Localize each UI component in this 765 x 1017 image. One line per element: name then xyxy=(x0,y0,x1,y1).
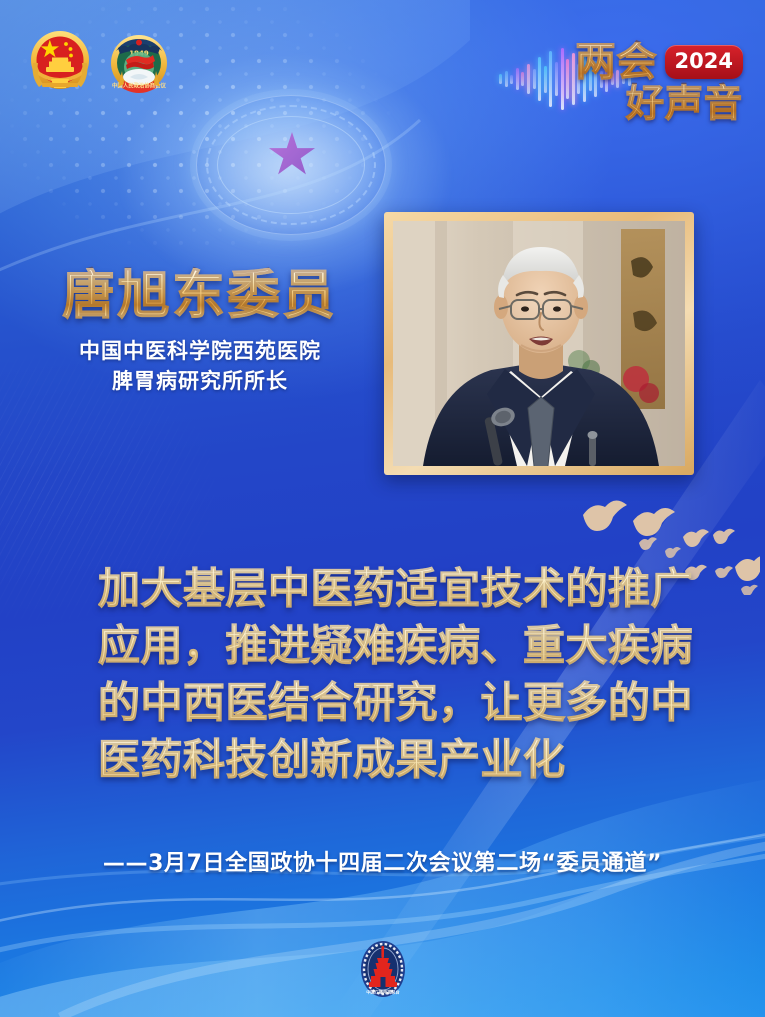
header-emblems: 1949 中国人民政治协商会议 xyxy=(25,27,174,99)
show-logo-text: 两会 2024 好声音 xyxy=(576,42,743,122)
waveform-bar xyxy=(566,59,569,99)
waveform-bar xyxy=(561,48,564,110)
waveform-bar xyxy=(555,62,558,96)
show-title-line1: 两会 xyxy=(576,42,658,82)
cppcc-emblem: 1949 中国人民政治协商会议 xyxy=(104,27,174,99)
svg-text:中国广播电视总台: 中国广播电视总台 xyxy=(366,989,400,996)
waveform-bar xyxy=(572,53,575,105)
waveform-bar xyxy=(549,51,552,107)
waveform-bar xyxy=(516,68,519,90)
ring-burst-icon xyxy=(196,95,386,235)
show-title-line2: 好声音 xyxy=(576,84,743,122)
show-logo: 两会 2024 好声音 xyxy=(491,26,751,130)
waveform-bar xyxy=(527,64,530,94)
waveform-bar xyxy=(538,57,541,101)
waveform-bar xyxy=(521,72,524,86)
speaker-portrait-frame xyxy=(384,212,694,475)
quote-line: 加大基层中医药适宜技术的推广 xyxy=(98,560,698,617)
quote-block: 加大基层中医药适宜技术的推广 应用，推进疑难疾病、重大疾病 的中西医结合研究，让… xyxy=(98,560,698,788)
year-badge: 2024 xyxy=(665,45,743,79)
quote-line: 医药科技创新成果产业化 xyxy=(98,731,698,788)
broadcast-station-logo: 中国广播电视总台 xyxy=(358,938,408,1000)
waveform-bar xyxy=(533,69,536,89)
waveform-bar xyxy=(499,74,502,84)
speaker-name: 唐旭东委员 xyxy=(0,268,400,324)
poster-canvas: 1949 中国人民政治协商会议 两会 2024 好声音 唐旭东委员 xyxy=(0,0,765,1017)
five-point-star-icon xyxy=(268,132,316,178)
speaker-portrait xyxy=(393,221,685,466)
quote-line: 的中西医结合研究，让更多的中 xyxy=(98,674,698,731)
speaker-name-block: 唐旭东委员 中国中医科学院西苑医院 脾胃病研究所所长 xyxy=(0,268,400,397)
waveform-bar xyxy=(544,66,547,93)
waveform-bar xyxy=(510,75,513,84)
speaker-affiliation-line2: 脾胃病研究所所长 xyxy=(0,367,400,397)
speaker-affiliation-line1: 中国中医科学院西苑医院 xyxy=(0,337,400,367)
waveform-bar xyxy=(505,71,508,87)
speaker-affiliation: 中国中医科学院西苑医院 脾胃病研究所所长 xyxy=(0,337,400,397)
quote-line: 应用，推进疑难疾病、重大疾病 xyxy=(98,617,698,674)
attribution-line: ——3月7日全国政协十四届二次会议第二场“委员通道” xyxy=(0,845,765,877)
national-emblem-of-china xyxy=(25,27,95,99)
